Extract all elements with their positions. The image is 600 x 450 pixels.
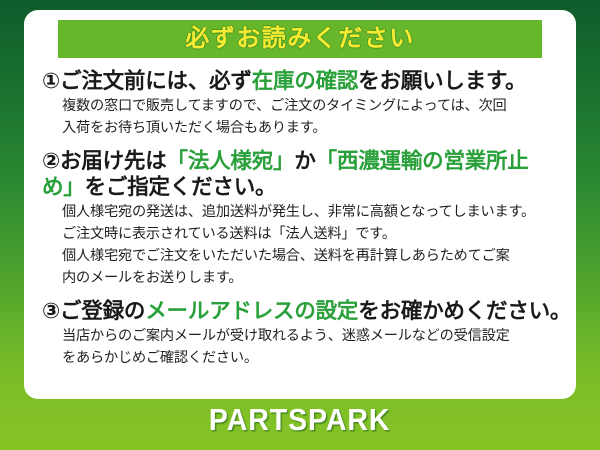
notice-item-heading-highlight: メールアドレスの設定 [145, 299, 358, 323]
notice-item-heading-text: をお確かめください。 [358, 299, 571, 323]
notice-item-heading: ③ご登録のメールアドレスの設定をお確かめください。 [42, 298, 560, 324]
notice-header-title: 必ずお読みください [185, 27, 415, 51]
notice-banner: 必ずお読みください ①ご注文前には、必ず在庫の確認をお願いします。複数の窓口で販… [0, 0, 600, 450]
notice-item-body-line: 内のメールをお送りします。 [62, 268, 560, 288]
notice-item: ②お届け先は「法人様宛」か「西濃運輸の営業所止め」をご指定ください。個人様宅宛の… [42, 148, 560, 289]
brand-footer: PARTSPARK [0, 402, 600, 438]
notice-item-body-line: 個人様宅宛でご注文をいただいた場合、送料を再計算しあらためてご案 [62, 246, 560, 266]
notice-item-heading-text: をお願いします。 [358, 69, 526, 93]
notice-item-heading: ①ご注文前には、必ず在庫の確認をお願いします。 [42, 68, 560, 94]
notice-item-heading-text: か [294, 149, 315, 173]
notice-item-body-line: 個人様宅宛の発送は、追加送料が発生し、非常に高額となってしまいます。 [62, 202, 560, 222]
notice-item-heading-highlight: 「法人様宛」 [167, 149, 295, 173]
notice-item-body-line: 入荷をお待ち頂いただく場合もあります。 [62, 118, 560, 138]
notice-item-heading-text: ご注文前には、必ず [60, 69, 252, 93]
notice-item: ①ご注文前には、必ず在庫の確認をお願いします。複数の窓口で販売してますので、ご注… [42, 68, 560, 139]
notice-item-marker: ③ [42, 299, 60, 323]
notice-item-list: ①ご注文前には、必ず在庫の確認をお願いします。複数の窓口で販売してますので、ご注… [38, 64, 562, 368]
notice-item-heading-text: お届け先は [60, 149, 167, 173]
notice-item-body-line: をあらかじめご確認ください。 [62, 348, 560, 368]
notice-item-heading-text: ご登録の [60, 299, 145, 323]
brand-name: PARTSPARK [209, 402, 391, 438]
notice-item-marker: ① [42, 69, 60, 93]
notice-header-band: 必ずお読みください [58, 20, 542, 58]
notice-item-heading-text: をご指定ください。 [85, 175, 277, 199]
notice-item-body-line: ご注文時に表示されている送料は「法人送料」です。 [62, 224, 560, 244]
notice-item-body-line: 複数の窓口で販売してますので、ご注文のタイミングによっては、次回 [62, 96, 560, 116]
notice-item: ③ご登録のメールアドレスの設定をお確かめください。当店からのご案内メールが受け取… [42, 298, 560, 369]
notice-card: 必ずお読みください ①ご注文前には、必ず在庫の確認をお願いします。複数の窓口で販… [24, 10, 576, 399]
notice-item-heading-highlight: 在庫の確認 [252, 69, 359, 93]
notice-item-heading: ②お届け先は「法人様宛」か「西濃運輸の営業所止め」をご指定ください。 [42, 148, 560, 200]
notice-item-body-line: 当店からのご案内メールが受け取れるよう、迷惑メールなどの受信設定 [62, 326, 560, 346]
notice-item-marker: ② [42, 149, 60, 173]
